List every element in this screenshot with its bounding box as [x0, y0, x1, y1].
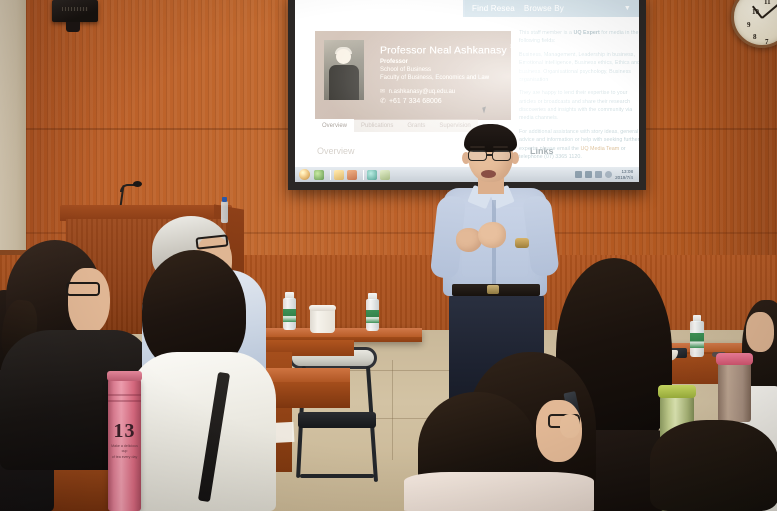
chair-crossbar [300, 474, 374, 478]
media-p1-pre: This staff member is a [519, 30, 573, 36]
thermos-subtext: Make a delicious cup of tea every day [108, 444, 141, 460]
wristwatch-icon [515, 238, 529, 248]
student-with-phone-hand [560, 414, 580, 438]
presenter-mouth [481, 170, 496, 178]
profile-email-text[interactable]: n.ashkanasy@uq.edu.au [389, 89, 455, 95]
bottle-cap [222, 197, 227, 202]
network-icon[interactable] [575, 171, 582, 178]
audience-far-right-face [746, 312, 774, 352]
clock-numeral: 11 [764, 0, 771, 6]
profile-role: Professor [380, 59, 408, 65]
eyeglasses-icon [66, 282, 100, 296]
profile-school: School of Business [380, 67, 431, 73]
cup-lid [309, 305, 336, 311]
thermos-number: 13 [108, 420, 141, 443]
browser2-icon[interactable] [367, 170, 377, 180]
volume-icon[interactable] [585, 171, 592, 178]
chevron-down-icon[interactable]: ▼ [624, 5, 631, 12]
document-icon[interactable] [380, 170, 390, 180]
system-tray[interactable]: 13:08 2019/7/4 [575, 169, 635, 179]
ceramic-cup [310, 308, 335, 333]
avatar-head [336, 49, 351, 64]
pink-lid-jar [718, 362, 751, 422]
taskbar-divider [330, 170, 331, 180]
presenter-belt-buckle [487, 285, 499, 294]
speaker-bracket [66, 22, 80, 32]
profile-tabs[interactable]: Overview Publications Grants Supervision [315, 119, 478, 132]
nav-item-browse-by[interactable]: Browse By [524, 4, 564, 13]
student-with-phone-body [404, 472, 594, 511]
eyeglasses-lens-left [468, 150, 487, 161]
bottle-label [690, 333, 704, 347]
water-bottle-right [366, 293, 379, 331]
uq-media-team-link[interactable]: UQ Media Team [580, 146, 619, 152]
clock-numeral: 8 [753, 33, 757, 41]
avatar-torso [329, 65, 359, 100]
thermos-cap [107, 371, 142, 381]
tab-overview[interactable]: Overview [315, 119, 354, 132]
profile-name: Professor Neal Ashkanasy ✱ [380, 42, 517, 57]
clock-numeral: 9 [747, 21, 751, 29]
thermos-subtext-line1: Make a delicious cup [108, 444, 141, 455]
eyeglasses-bridge [487, 154, 493, 156]
bottle-label [366, 310, 379, 323]
mail-icon: ✉ [380, 88, 387, 95]
presenter-brow-right [493, 146, 508, 148]
search-icon[interactable] [605, 171, 612, 178]
expert-star-icon: ✱ [510, 42, 517, 51]
folder-icon[interactable] [334, 170, 344, 180]
media-paragraph-expertise: They are happy to lend their expertise t… [519, 89, 639, 123]
profile-email[interactable]: ✉ n.ashkanasy@uq.edu.au [380, 88, 455, 95]
thermos-subtext-line2: of tea every day [108, 455, 141, 460]
bottle-label [283, 309, 296, 322]
media-p1-bold: UQ Expert [573, 30, 599, 36]
tab-publications[interactable]: Publications [354, 119, 400, 132]
profile-phone-text: +61 7 334 68006 [389, 98, 442, 105]
site-header-blank [295, 0, 465, 17]
folding-chair-seat [298, 412, 376, 428]
taskbar-clock[interactable]: 13:08 2019/7/4 [615, 169, 633, 179]
water-bottle-far-right [690, 315, 704, 357]
browser-icon[interactable] [314, 170, 324, 180]
wall-speaker-icon [52, 0, 98, 22]
profile-phone: ✆ +61 7 334 68006 [380, 97, 442, 105]
lecture-hall-photo: 12 11 10 9 8 7 6 Find Resea Browse By ▼ [0, 0, 777, 511]
site-subheader [295, 17, 639, 26]
phone-icon: ✆ [380, 97, 387, 105]
thermos-ring [108, 400, 141, 402]
microphone-icon [133, 181, 142, 187]
site-navigation[interactable]: Find Resea Browse By ▼ [463, 0, 639, 17]
jar-lid [716, 353, 753, 365]
tab-grants[interactable]: Grants [400, 119, 432, 132]
tumbler-lid [658, 385, 696, 398]
shield-icon[interactable] [595, 171, 602, 178]
nav-item-find-research[interactable]: Find Resea [472, 4, 515, 13]
os-taskbar[interactable]: 13:08 2019/7/4 [295, 167, 639, 182]
lectern-water-bottle [221, 201, 228, 223]
clock-numeral: 7 [765, 38, 769, 46]
water-bottle-left [283, 292, 296, 330]
uq-expert-media-panel: This staff member is a UQ Expert for med… [519, 29, 639, 166]
thermos-ring [108, 394, 141, 396]
profile-faculty: Faculty of Business, Economics and Law [380, 75, 489, 81]
media-player-icon[interactable] [347, 170, 357, 180]
taskbar-date: 2019/7/4 [615, 175, 633, 180]
media-paragraph-1: This staff member is a UQ Expert for med… [519, 29, 639, 46]
audience-foreground-right-hair [650, 420, 777, 511]
taskbar-divider [363, 170, 364, 180]
media-paragraph-assistance: For additional assistance with story ide… [519, 128, 639, 162]
media-paragraph-fields: Business, Management, Leadership in busi… [519, 51, 639, 85]
presenter-right-hand [478, 222, 506, 248]
avatar [324, 40, 364, 100]
profile-name-text: Professor Neal Ashkanasy [380, 45, 507, 57]
presenter-brow-left [470, 146, 485, 148]
start-orb-icon[interactable] [299, 169, 310, 180]
overview-heading: Overview [317, 146, 355, 156]
eyeglasses-lens-right [492, 150, 511, 161]
pink-thermos: 13 Make a delicious cup of tea every day [108, 378, 141, 511]
speaker-grille [62, 7, 88, 11]
audience-woman-black-face [68, 268, 110, 334]
